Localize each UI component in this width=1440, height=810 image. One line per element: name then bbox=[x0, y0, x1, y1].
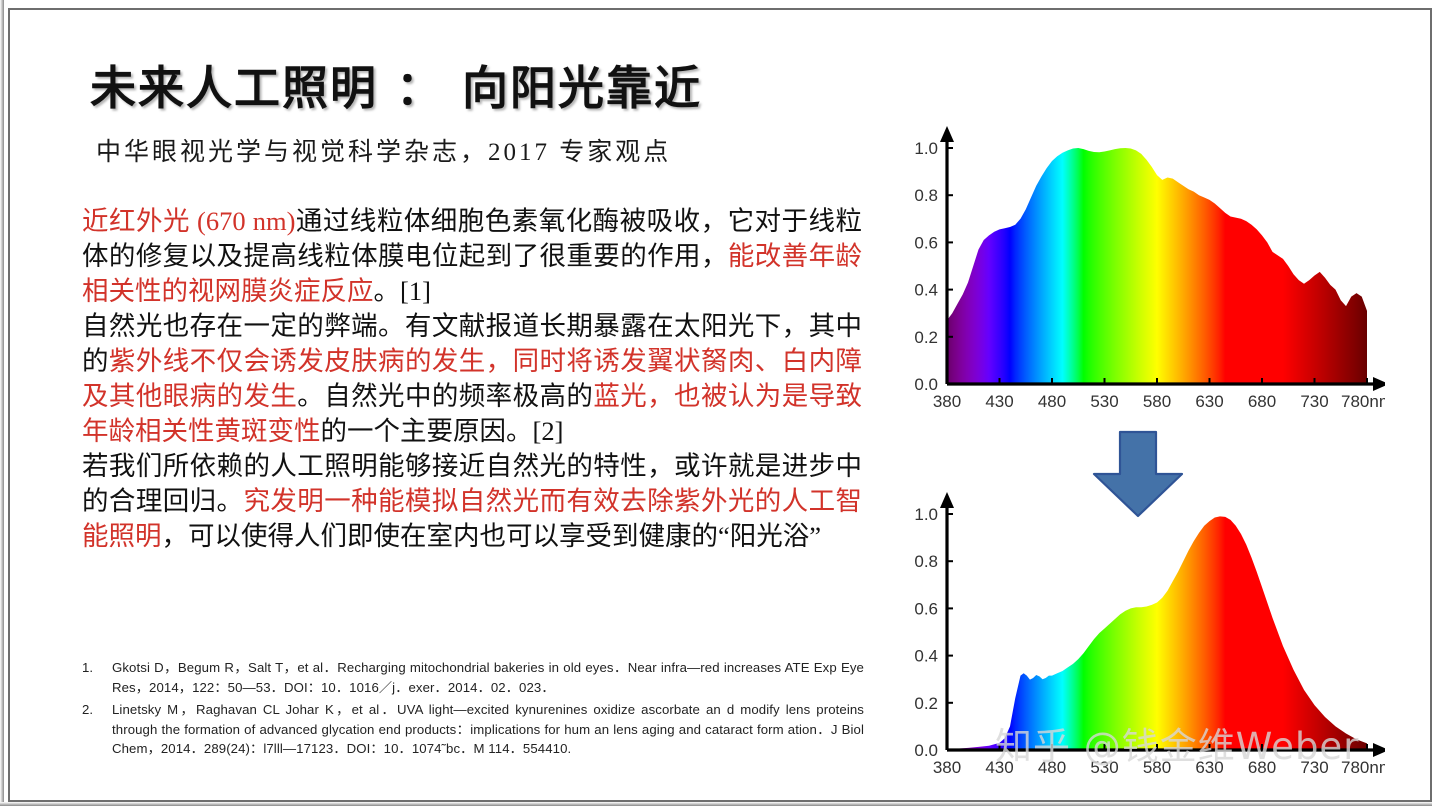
x-tick-label: 780nm bbox=[1341, 758, 1385, 777]
y-tick-label: 0.8 bbox=[914, 186, 938, 205]
text-run: 的一个主要原因。[2] bbox=[321, 416, 564, 446]
slide-subtitle: 中华眼视光学与视觉科学杂志，2017 专家观点 bbox=[96, 132, 886, 168]
x-tick-label: 580 bbox=[1143, 758, 1171, 777]
x-tick-label: 480 bbox=[1038, 758, 1066, 777]
x-tick-label: 680 bbox=[1248, 392, 1276, 411]
x-tick-label: 730 bbox=[1300, 758, 1328, 777]
x-tick-label: 580 bbox=[1143, 392, 1171, 411]
x-axis-arrowhead bbox=[1373, 377, 1385, 391]
y-tick-label: 0.4 bbox=[914, 281, 938, 300]
y-tick-label: 0.6 bbox=[914, 233, 938, 252]
y-tick-label: 0.2 bbox=[914, 328, 938, 347]
x-tick-label: 480 bbox=[1038, 392, 1066, 411]
frame-border-top bbox=[8, 8, 1432, 10]
y-tick-label: 0.2 bbox=[914, 694, 938, 713]
frame-shadow-left bbox=[0, 0, 4, 802]
chart-artificial-spectrum: 0.00.20.40.60.81.03804304805305806306807… bbox=[905, 492, 1385, 782]
x-axis-arrowhead bbox=[1373, 743, 1385, 757]
y-tick-label: 1.0 bbox=[914, 505, 938, 524]
reference-number: 2. bbox=[82, 700, 112, 759]
reference-text: Gkotsi D，Begum R，Salt T，et al．Recharging… bbox=[112, 658, 864, 697]
references-list: 1.Gkotsi D，Begum R，Salt T，et al．Rechargi… bbox=[82, 658, 864, 762]
reference-text: Linetsky M，Raghavan CL Johar K，et al．UVA… bbox=[112, 700, 864, 759]
x-tick-label: 430 bbox=[985, 758, 1013, 777]
chart-daylight-spectrum: 0.00.20.40.60.81.03804304805305806306807… bbox=[905, 126, 1385, 416]
x-tick-label: 530 bbox=[1090, 758, 1118, 777]
reference-item: 1.Gkotsi D，Begum R，Salt T，et al．Rechargi… bbox=[82, 658, 864, 697]
y-tick-label: 0.6 bbox=[914, 599, 938, 618]
reference-item: 2.Linetsky M，Raghavan CL Johar K，et al．U… bbox=[82, 700, 864, 759]
body-paragraph: 若我们所依赖的人工照明能够接近自然光的特性，或许就是进步中的合理回归。究发明一种… bbox=[82, 449, 862, 554]
x-tick-label: 680 bbox=[1248, 758, 1276, 777]
slide-title: 未来人工照明 ： 向阳光靠近 bbox=[90, 52, 870, 118]
frame-border-bottom bbox=[8, 800, 1432, 802]
spectrum-area bbox=[947, 516, 1367, 750]
y-tick-label: 1.0 bbox=[914, 139, 938, 158]
text-run: 。自然光中的频率极高的 bbox=[297, 381, 593, 411]
body-paragraph: 近红外光 (670 nm)通过线粒体细胞色素氧化酶被吸收，它对于线粒体的修复以及… bbox=[82, 204, 862, 309]
text-run: 。[1] bbox=[374, 276, 431, 306]
frame-border-right bbox=[1430, 8, 1432, 802]
body-text-block: 近红外光 (670 nm)通过线粒体细胞色素氧化酶被吸收，它对于线粒体的修复以及… bbox=[82, 204, 862, 554]
x-tick-label: 430 bbox=[985, 392, 1013, 411]
y-tick-label: 0.4 bbox=[914, 647, 938, 666]
text-run: 近红外光 (670 nm) bbox=[82, 206, 295, 236]
x-tick-label: 630 bbox=[1195, 392, 1223, 411]
y-tick-label: 0.8 bbox=[914, 552, 938, 571]
frame-border-left bbox=[8, 8, 10, 802]
frame-shadow-top bbox=[0, 802, 1432, 806]
y-axis-arrowhead bbox=[940, 126, 954, 142]
x-tick-label: 730 bbox=[1300, 392, 1328, 411]
x-tick-label: 630 bbox=[1195, 758, 1223, 777]
x-tick-label: 530 bbox=[1090, 392, 1118, 411]
y-axis-arrowhead bbox=[940, 492, 954, 508]
slide-canvas: 未来人工照明 ： 向阳光靠近 中华眼视光学与视觉科学杂志，2017 专家观点 近… bbox=[0, 0, 1440, 810]
x-tick-label: 380 bbox=[933, 392, 961, 411]
x-tick-label: 780nm bbox=[1341, 392, 1385, 411]
x-tick-label: 380 bbox=[933, 758, 961, 777]
reference-number: 1. bbox=[82, 658, 112, 697]
spectrum-area bbox=[947, 148, 1367, 384]
body-paragraph: 自然光也存在一定的弊端。有文献报道长期暴露在太阳光下，其中的紫外线不仅会诱发皮肤… bbox=[82, 309, 862, 449]
text-run: ，可以使得人们即使在室内也可以享受到健康的“阳光浴” bbox=[162, 521, 822, 551]
